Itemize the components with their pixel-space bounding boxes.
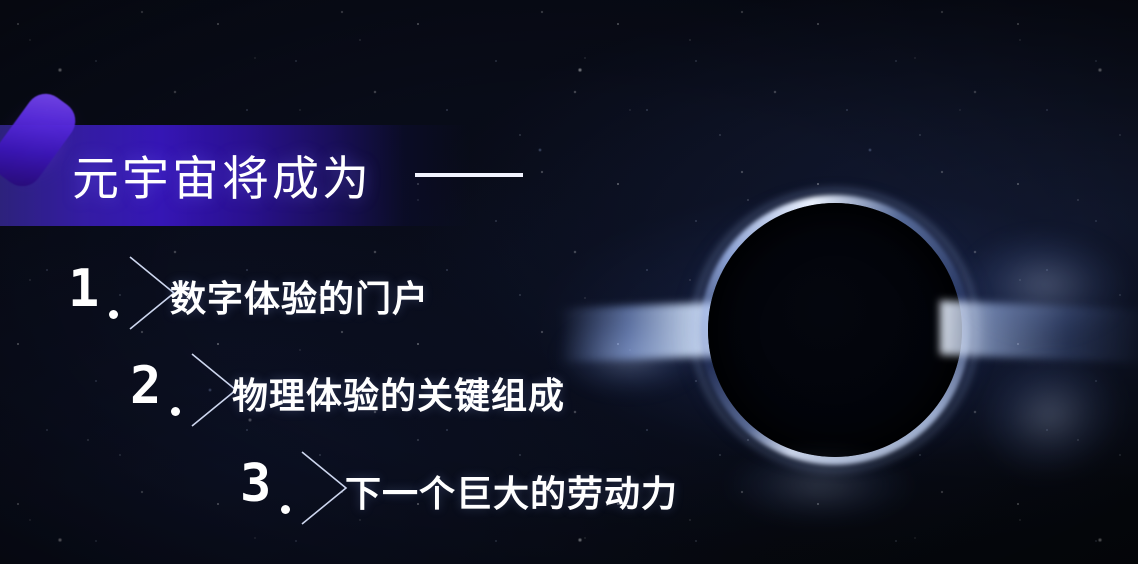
list-item-label: 下一个巨大的劳动力 — [345, 465, 678, 517]
title-dash-rule — [415, 173, 523, 177]
slide-canvas: 元宇宙将成为 1 数字体验的门户 2 物理体验的关键组成 3 下 — [0, 0, 1138, 564]
list-item-dot — [171, 407, 180, 416]
list-item-dot — [281, 505, 290, 514]
chevron-right-icon — [298, 450, 350, 526]
list-item-label: 数字体验的门户 — [170, 270, 429, 322]
list-item-dot — [109, 310, 118, 319]
list-item-label: 物理体验的关键组成 — [232, 367, 565, 419]
list-item-number: 3 — [240, 458, 271, 510]
page-title: 元宇宙将成为 — [72, 140, 372, 209]
list-item-number: 2 — [130, 360, 161, 412]
list-item-number: 1 — [68, 263, 99, 315]
